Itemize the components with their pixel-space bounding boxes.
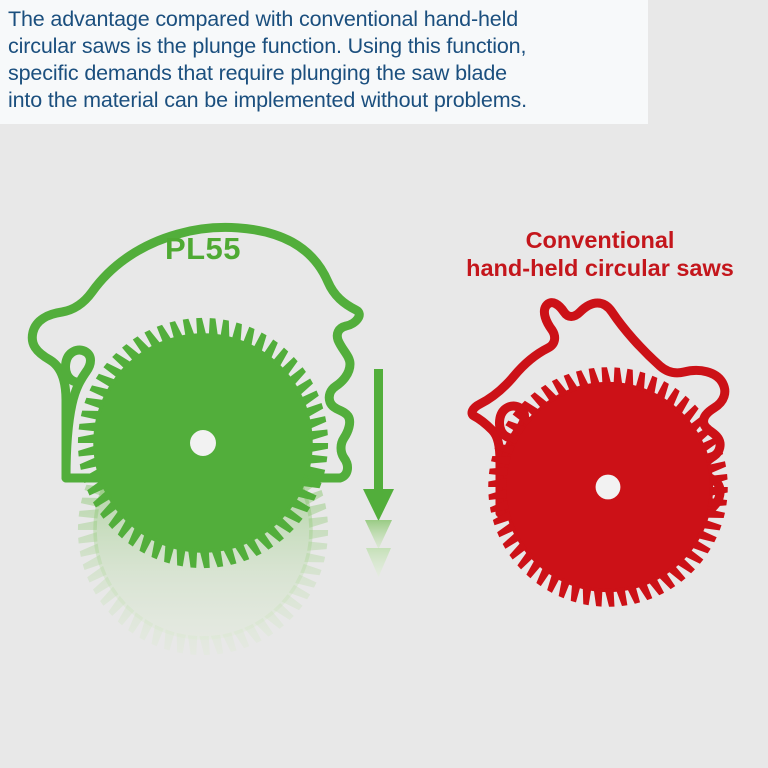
blade-arbor-hole [190,430,216,456]
plunge-arrow-ghost-2 [366,548,391,577]
conventional-saw-red [472,303,728,607]
saw-comparison-illustration [0,0,768,768]
plunge-saw-green [32,227,359,655]
saw-blade-red [488,367,728,607]
label-conventional-saws: Conventional hand-held circular saws [440,226,760,282]
plunge-arrow [363,369,394,577]
illustration-stage [0,0,768,768]
plunge-arrow-solid [363,369,394,521]
plunge-arrow-ghost-1 [365,520,392,549]
blade-arbor-hole [596,475,621,500]
screenshot-root: The advantage compared with conventional… [0,0,768,768]
label-pl55: PL55 [88,235,318,262]
